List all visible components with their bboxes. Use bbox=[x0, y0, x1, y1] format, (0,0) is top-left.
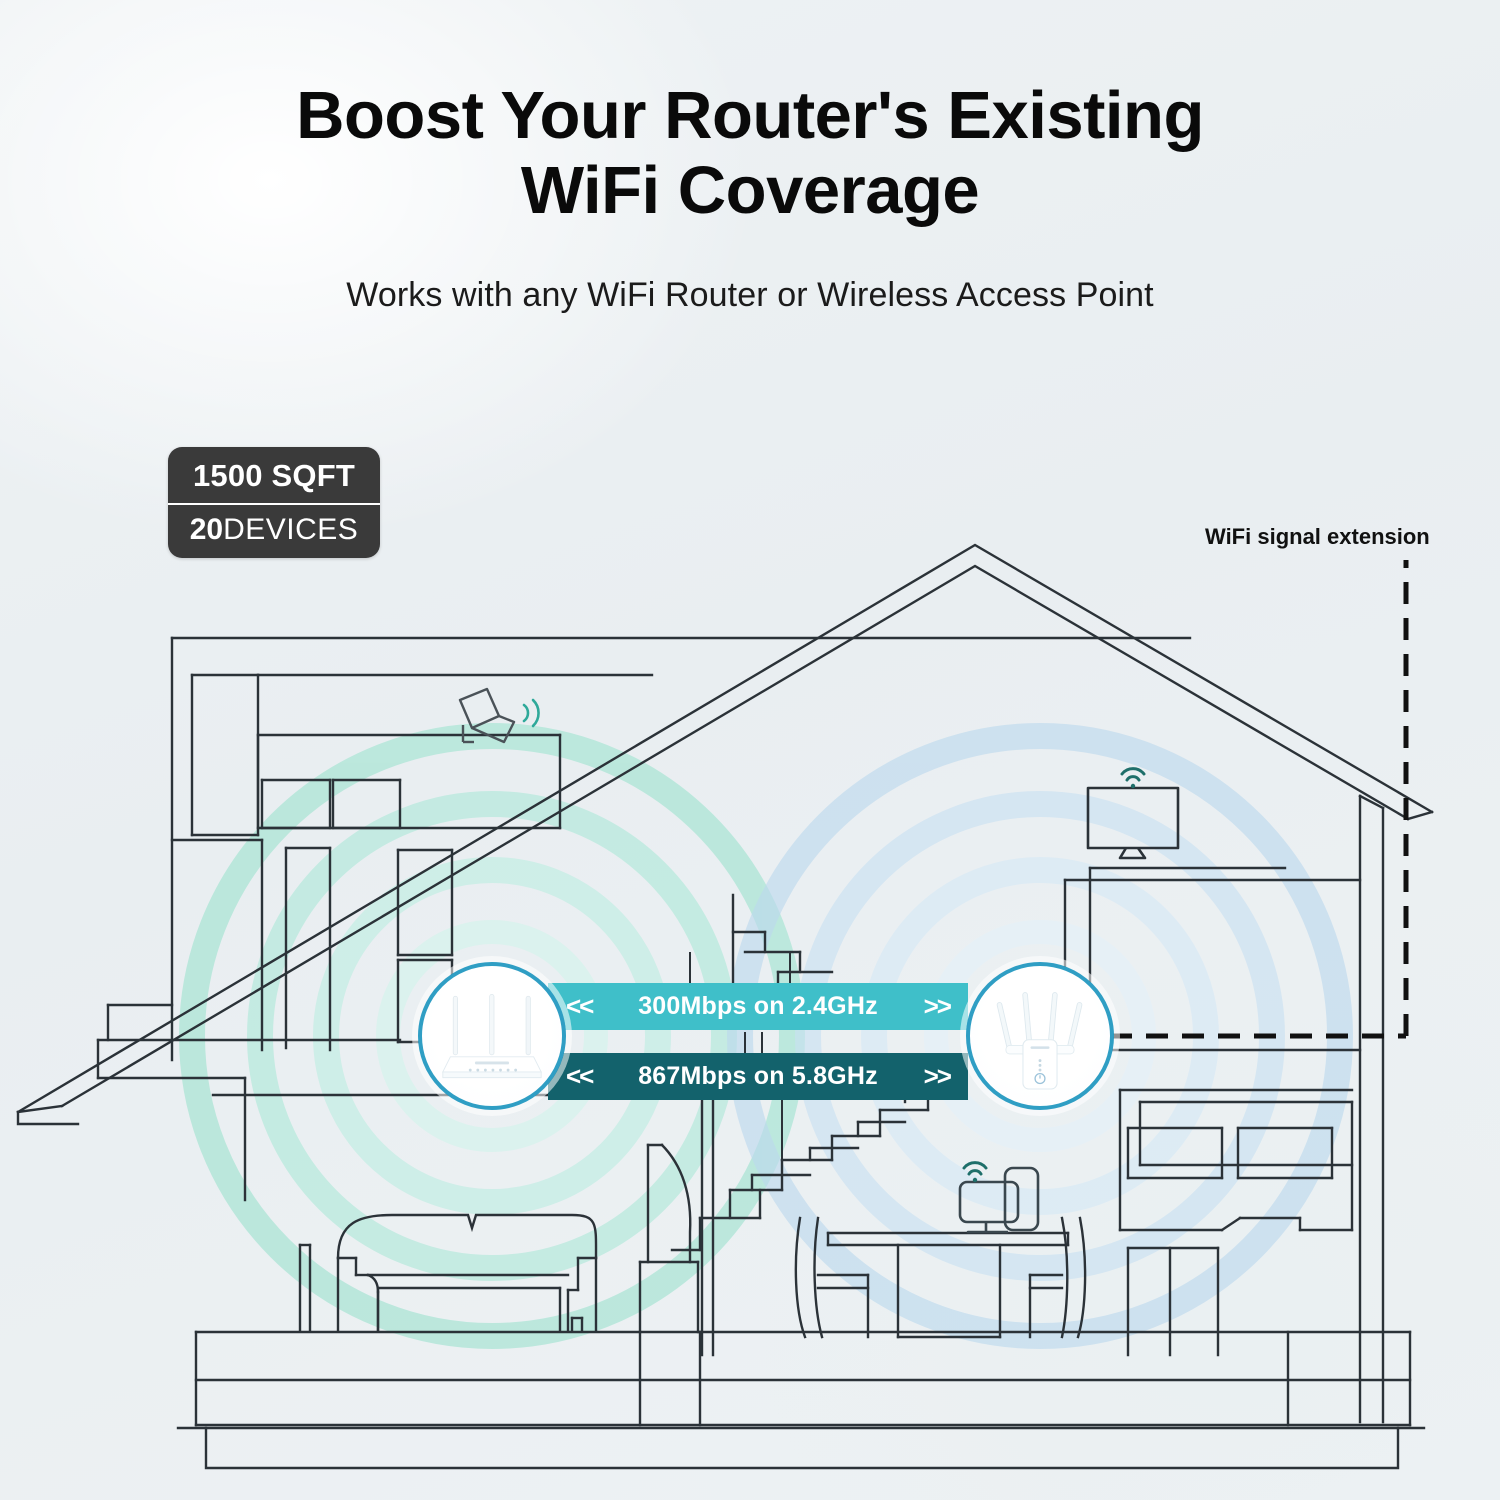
speed-bar-5-8ghz: << 867Mbps on 5.8GHz >> bbox=[548, 1053, 968, 1100]
roof-eave-left bbox=[18, 1112, 78, 1124]
bar-label: 867Mbps on 5.8GHz bbox=[592, 1062, 923, 1091]
bar-right-chevron: >> bbox=[924, 1061, 950, 1092]
page-title: Boost Your Router's Existing WiFi Covera… bbox=[0, 78, 1500, 228]
page-subtitle: Works with any WiFi Router or Wireless A… bbox=[0, 276, 1500, 315]
headline-line-2: WiFi Coverage bbox=[0, 153, 1500, 228]
extender-device-circle bbox=[966, 962, 1114, 1110]
badge-devices-label: DEVICES bbox=[223, 513, 358, 546]
headline-line-1: Boost Your Router's Existing bbox=[296, 78, 1204, 153]
badge-devices-row: 20DEVICES bbox=[168, 505, 380, 550]
bar-label: 300Mbps on 2.4GHz bbox=[592, 992, 923, 1021]
floor-bands bbox=[196, 1332, 1410, 1425]
bar-right-chevron: >> bbox=[924, 991, 950, 1022]
bar-left-chevron: << bbox=[566, 1061, 592, 1092]
router-device-circle bbox=[418, 962, 566, 1110]
badge-devices-count: 20 bbox=[190, 513, 223, 546]
house-right-wall bbox=[1360, 796, 1383, 1422]
header-block: Boost Your Router's Existing WiFi Covera… bbox=[0, 78, 1500, 315]
coverage-badge: 1500 SQFT 20DEVICES bbox=[168, 447, 380, 558]
bar-left-chevron: << bbox=[566, 991, 592, 1022]
wifi-extension-label: WiFi signal extension bbox=[1205, 524, 1430, 550]
wifi-extender-icon bbox=[970, 966, 1110, 1106]
poster-canvas: Boost Your Router's Existing WiFi Covera… bbox=[0, 0, 1500, 1500]
speed-bar-2-4ghz: << 300Mbps on 2.4GHz >> bbox=[548, 983, 968, 1030]
wifi-router-icon bbox=[422, 966, 562, 1106]
house-foundation bbox=[178, 1428, 1424, 1468]
badge-coverage-value: 1500 SQFT bbox=[168, 453, 380, 505]
